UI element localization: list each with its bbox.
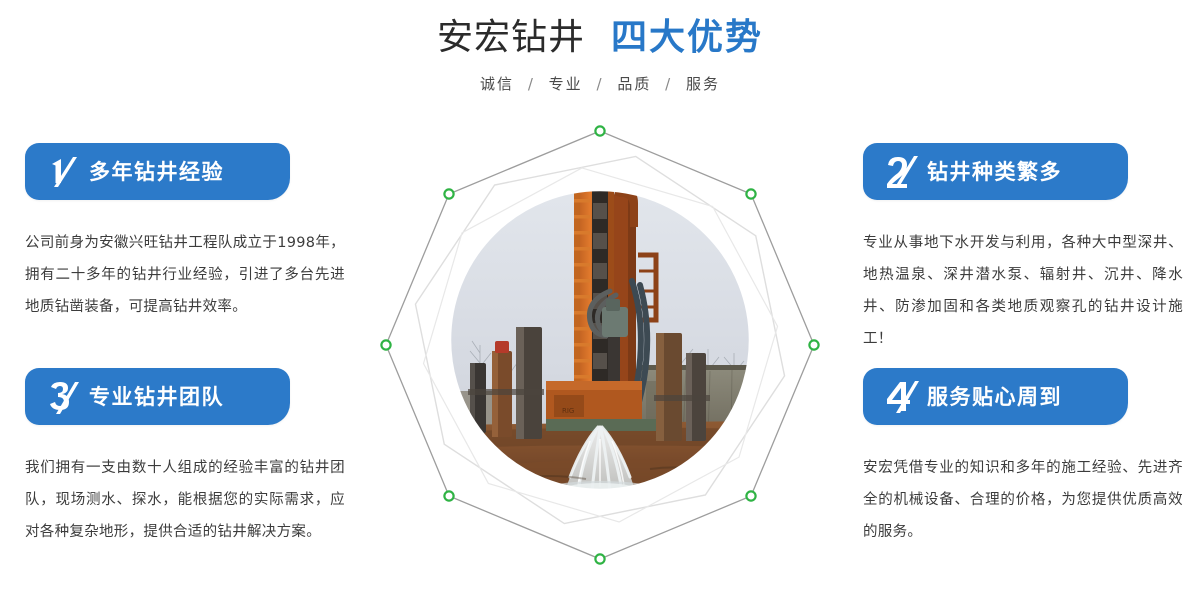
title-highlight: 四大优势	[611, 17, 763, 58]
feature-block-4: 服务贴心周到 安宏凭借专业的知识和多年的施工经验、先进齐全的机械设备、合理的价格…	[863, 368, 1193, 548]
feature-badge-1[interactable]: 多年钻井经验	[25, 143, 290, 200]
feature-block-1: 多年钻井经验 公司前身为安徽兴旺钻井工程队成立于1998年，拥有二十多年的钻井行…	[25, 143, 355, 323]
vertex-dot-se	[746, 491, 755, 500]
page-subtitle: 诚信 / 专业 / 品质 / 服务	[0, 73, 1200, 95]
vertex-dot-w	[381, 340, 390, 349]
feature-body-2: 专业从事地下水开发与利用，各种大中型深井、地热温泉、深井潜水泵、辐射井、沉井、降…	[863, 227, 1183, 355]
drilling-rig-photo: RIG	[445, 185, 755, 501]
title-company: 安宏钻井	[437, 17, 585, 58]
subtitle-item-1: 专业	[549, 75, 583, 93]
subtitle-separator-1: /	[596, 75, 603, 93]
numeral-three-slash-icon	[43, 376, 85, 418]
subtitle-item-2: 品质	[617, 75, 651, 93]
subtitle-separator-0: /	[528, 75, 535, 93]
feature-badge-4[interactable]: 服务贴心周到	[863, 368, 1128, 425]
vertex-dot-ne	[746, 189, 755, 198]
advantages-banner: 安宏钻井四大优势 诚信 / 专业 / 品质 / 服务	[0, 0, 1200, 600]
feature-title-3: 专业钻井团队	[89, 376, 224, 418]
feature-block-2: 钻井种类繁多 专业从事地下水开发与利用，各种大中型深井、地热温泉、深井潜水泵、辐…	[863, 143, 1193, 355]
vertex-dot-nw	[444, 189, 453, 198]
numeral-two-slash-icon	[881, 151, 923, 193]
page-title: 安宏钻井四大优势	[0, 14, 1200, 62]
feature-block-3: 专业钻井团队 我们拥有一支由数十人组成的经验丰富的钻井团队，现场测水、探水，能根…	[25, 368, 355, 548]
vertex-dot-s	[595, 554, 604, 563]
vertex-dot-e	[809, 340, 818, 349]
subtitle-item-3: 服务	[686, 75, 720, 93]
feature-body-4: 安宏凭借专业的知识和多年的施工经验、先进齐全的机械设备、合理的价格，为您提供优质…	[863, 452, 1183, 548]
vertex-dot-sw	[444, 491, 453, 500]
feature-body-3: 我们拥有一支由数十人组成的经验丰富的钻井团队，现场测水、探水，能根据您的实际需求…	[25, 452, 345, 548]
page-header: 安宏钻井四大优势 诚信 / 专业 / 品质 / 服务	[0, 14, 1200, 95]
feature-body-1: 公司前身为安徽兴旺钻井工程队成立于1998年，拥有二十多年的钻井行业经验，引进了…	[25, 227, 345, 323]
svg-text:RIG: RIG	[562, 407, 574, 415]
subtitle-separator-2: /	[665, 75, 672, 93]
feature-badge-2[interactable]: 钻井种类繁多	[863, 143, 1128, 200]
feature-title-2: 钻井种类繁多	[927, 151, 1062, 193]
vertex-dot-n	[595, 126, 604, 135]
numeral-one-slash-icon	[43, 151, 85, 193]
numeral-four-slash-icon	[881, 376, 923, 418]
feature-title-4: 服务贴心周到	[927, 376, 1062, 418]
feature-title-1: 多年钻井经验	[89, 151, 224, 193]
center-illustration: RIG	[350, 95, 850, 595]
feature-badge-3[interactable]: 专业钻井团队	[25, 368, 290, 425]
subtitle-item-0: 诚信	[480, 75, 514, 93]
